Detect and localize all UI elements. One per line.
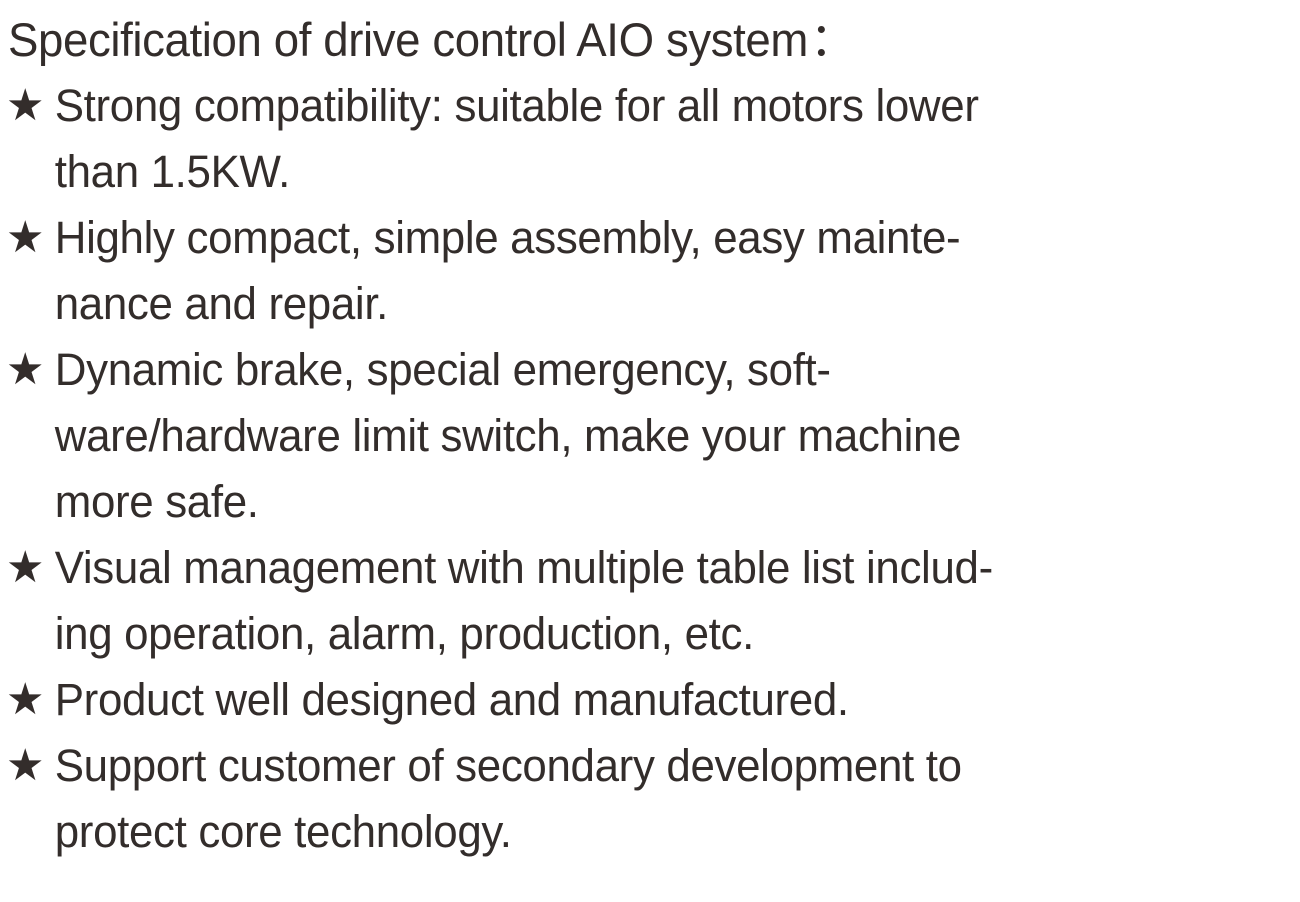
star-icon: ★	[6, 733, 53, 799]
feature-item-compact-maintenance: ★ Highly compact, simple assembly, easy …	[6, 205, 1268, 337]
feature-text: Highly compact, simple assembly, easy ma…	[55, 205, 1268, 337]
star-icon: ★	[6, 535, 53, 601]
feature-text: Strong compatibility: suitable for all m…	[55, 73, 1268, 205]
page-title: Specification of drive control AIO syste…	[8, 8, 1261, 72]
star-icon: ★	[6, 337, 53, 403]
feature-list: ★ Strong compatibility: suitable for all…	[6, 73, 1300, 865]
star-icon: ★	[6, 667, 53, 733]
feature-text: Dynamic brake, special emergency, soft- …	[55, 337, 1268, 535]
feature-item-safety: ★ Dynamic brake, special emergency, soft…	[6, 337, 1268, 535]
star-icon: ★	[6, 73, 53, 139]
star-icon: ★	[6, 205, 53, 271]
feature-text: Product well designed and manufactured.	[55, 667, 1268, 733]
feature-item-compatibility: ★ Strong compatibility: suitable for all…	[6, 73, 1268, 205]
page-title-colon: ：	[808, 13, 856, 66]
page-title-text: Specification of drive control AIO syste…	[8, 13, 808, 66]
feature-text: Support customer of secondary developmen…	[55, 733, 1268, 865]
feature-item-visual-management: ★ Visual management with multiple table …	[6, 535, 1268, 667]
feature-item-design-quality: ★ Product well designed and manufactured…	[6, 667, 1268, 733]
feature-text: Visual management with multiple table li…	[55, 535, 1268, 667]
feature-item-secondary-development: ★ Support customer of secondary developm…	[6, 733, 1268, 865]
specification-sheet: Specification of drive control AIO syste…	[0, 0, 1300, 902]
